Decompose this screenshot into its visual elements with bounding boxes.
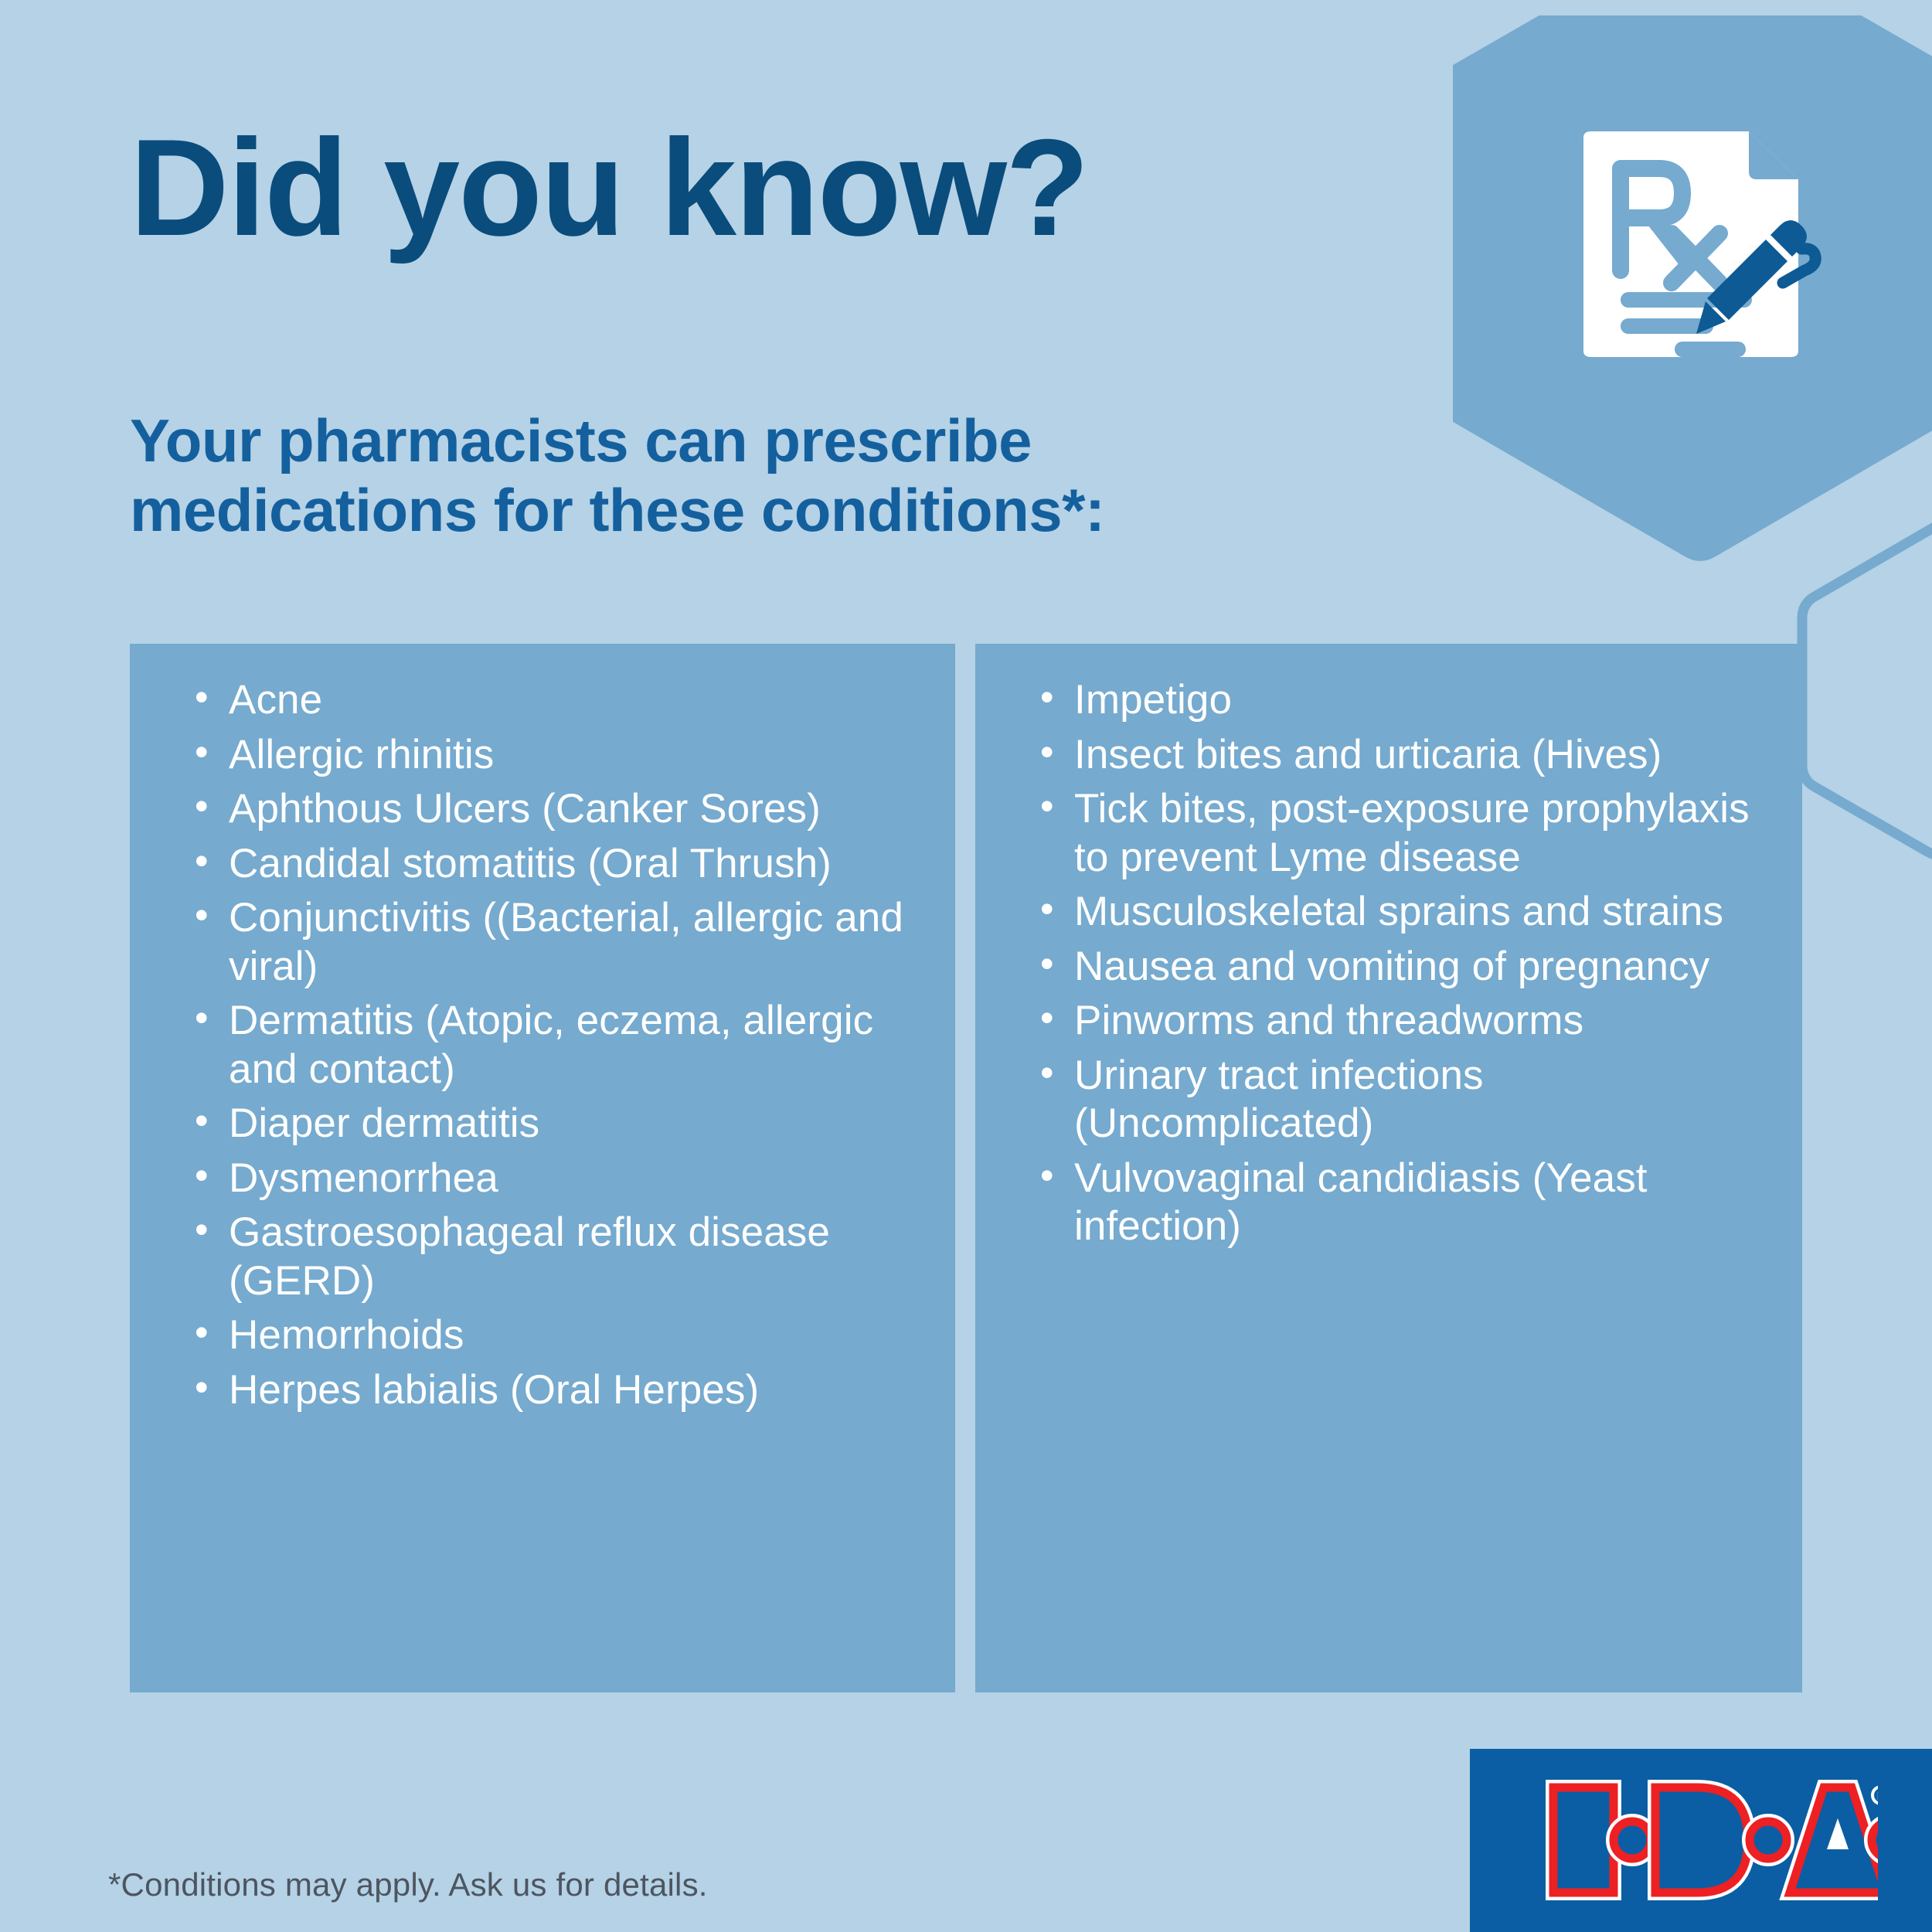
condition-list-item: Vulvovaginal candidiasis (Yeast infectio… bbox=[1037, 1155, 1779, 1251]
condition-list-item: Impetigo bbox=[1037, 676, 1779, 725]
condition-list-item: Hemorrhoids bbox=[192, 1311, 932, 1360]
conditions-list-right: ImpetigoInsect bites and urticaria (Hive… bbox=[1037, 676, 1779, 1251]
condition-list-item: Urinary tract infections (Uncomplicated) bbox=[1037, 1052, 1779, 1148]
condition-list-item: Musculoskeletal sprains and strains bbox=[1037, 888, 1779, 937]
condition-list-item: Diaper dermatitis bbox=[192, 1100, 932, 1148]
page-title: Did you know? bbox=[130, 116, 1088, 260]
infographic-poster: Did you know? Your pharmacists can presc… bbox=[0, 0, 1932, 1932]
condition-list-item: Herpes labialis (Oral Herpes) bbox=[192, 1366, 932, 1415]
condition-list-item: Dysmenorrhea bbox=[192, 1155, 932, 1203]
rx-prescription-icon bbox=[1573, 131, 1828, 363]
condition-list-item: Candidal stomatitis (Oral Thrush) bbox=[192, 840, 932, 889]
condition-list-item: Conjunctivitis ((Bacterial, allergic and… bbox=[192, 894, 932, 991]
condition-list-item: Tick bites, post-exposure prophylaxis to… bbox=[1037, 785, 1779, 882]
conditions-list-left: AcneAllergic rhinitisAphthous Ulcers (Ca… bbox=[192, 676, 932, 1414]
subtitle-line-2: medications for these conditions*: bbox=[130, 475, 1105, 545]
conditions-panel-right: ImpetigoInsect bites and urticaria (Hive… bbox=[975, 644, 1802, 1692]
svg-text:R: R bbox=[1877, 1790, 1878, 1803]
condition-list-item: Insect bites and urticaria (Hives) bbox=[1037, 731, 1779, 780]
ida-logo-icon: R bbox=[1546, 1778, 1878, 1902]
condition-list-item: Pinworms and threadworms bbox=[1037, 997, 1779, 1046]
conditions-panel-left: AcneAllergic rhinitisAphthous Ulcers (Ca… bbox=[130, 644, 955, 1692]
subtitle-line-1: Your pharmacists can prescribe bbox=[130, 406, 1105, 475]
condition-list-item: Acne bbox=[192, 676, 932, 725]
footnote-disclaimer: *Conditions may apply. Ask us for detail… bbox=[108, 1866, 708, 1903]
ida-logo-block: R bbox=[1470, 1749, 1932, 1932]
subtitle: Your pharmacists can prescribe medicatio… bbox=[130, 406, 1105, 546]
condition-list-item: Nausea and vomiting of pregnancy bbox=[1037, 943, 1779, 992]
condition-list-item: Aphthous Ulcers (Canker Sores) bbox=[192, 785, 932, 834]
condition-list-item: Dermatitis (Atopic, eczema, allergic and… bbox=[192, 997, 932, 1094]
condition-list-item: Gastroesophageal reflux disease (GERD) bbox=[192, 1209, 932, 1305]
registered-trademark-icon: R bbox=[1872, 1787, 1878, 1804]
condition-list-item: Allergic rhinitis bbox=[192, 731, 932, 780]
